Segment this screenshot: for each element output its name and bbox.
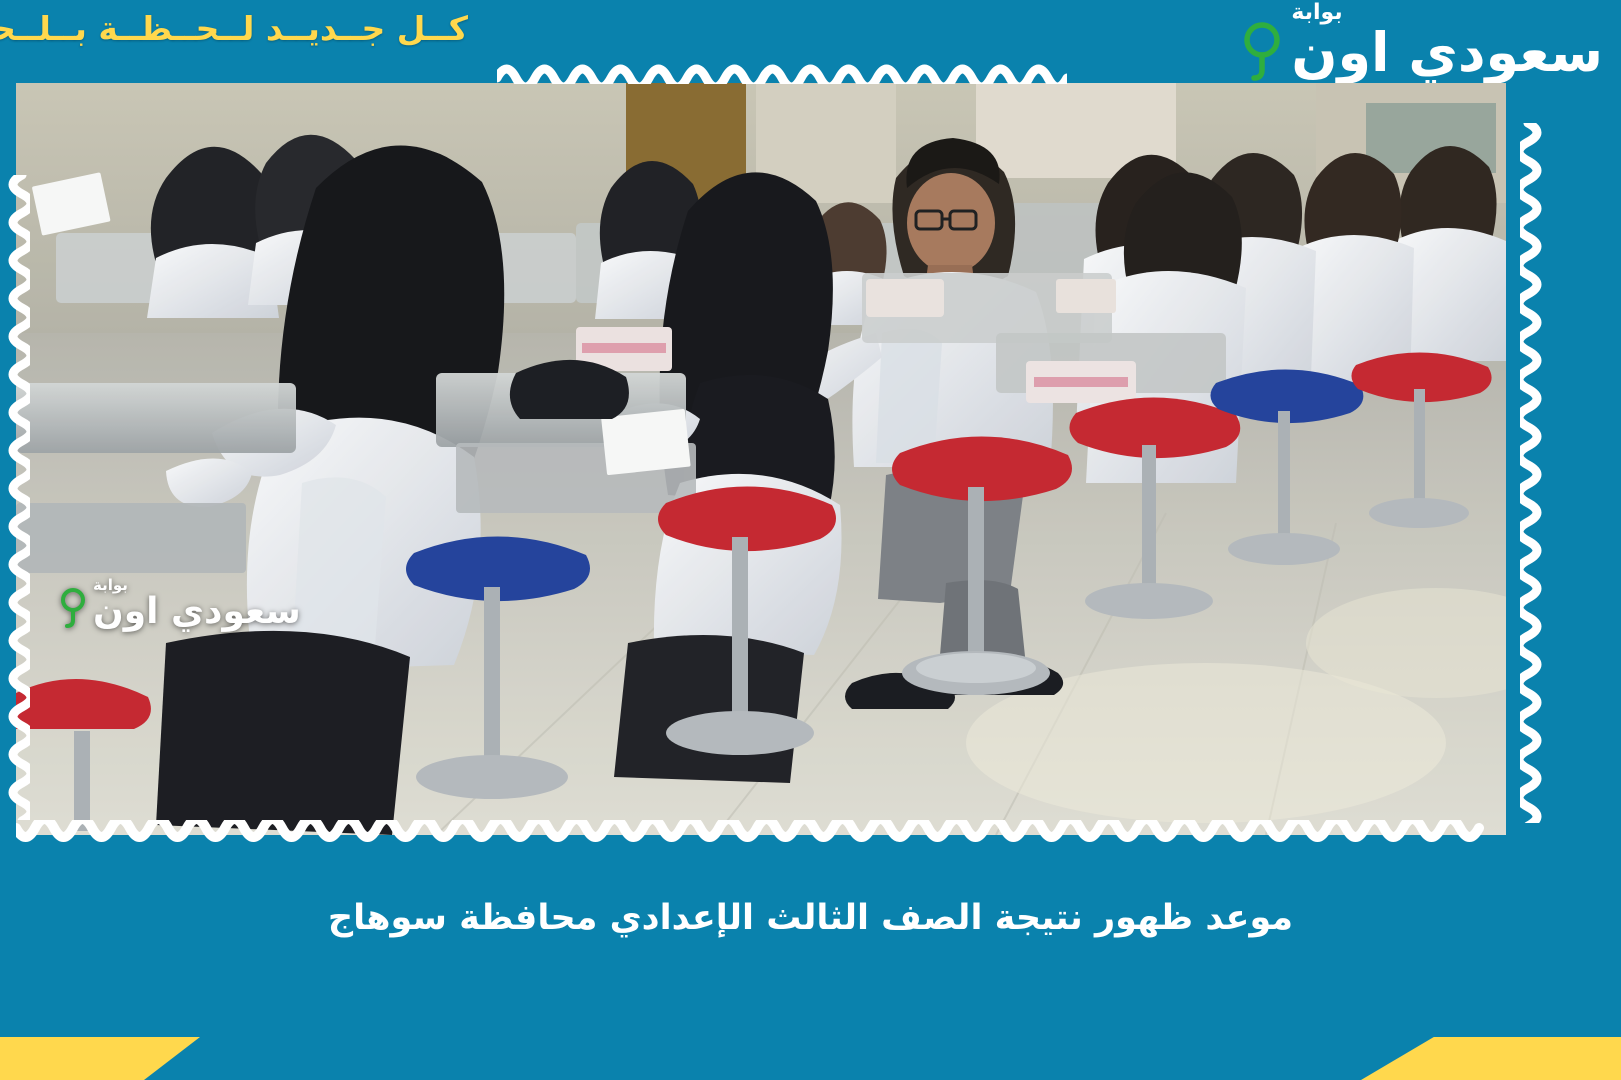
- watermark-main-word: سعودي اون: [93, 594, 301, 630]
- brand-main-word: سعودي اون: [1291, 26, 1603, 80]
- wave-icon: [497, 58, 1067, 84]
- poster-root: كــل جــديــد لــحــظــة بــلــحــظــة ب…: [0, 0, 1621, 1080]
- wave-icon: [1520, 123, 1550, 823]
- bottom-banner-right: [1361, 1037, 1621, 1080]
- brand-words: بوابة سعودي اون: [1291, 2, 1603, 80]
- location-pin-icon: [58, 587, 88, 629]
- wave-border-right: [1520, 123, 1550, 823]
- wave-border-top: [497, 58, 1067, 84]
- photo-frame: بوابة سعودي اون: [16, 83, 1506, 835]
- photo-watermark: بوابة سعودي اون: [58, 578, 301, 630]
- location-pin-icon: [1239, 20, 1285, 82]
- classroom-photo: [16, 83, 1506, 835]
- bottom-banner-left: [0, 1037, 200, 1080]
- brand-logo: بوابة سعودي اون: [1239, 2, 1603, 82]
- watermark-words: بوابة سعودي اون: [93, 578, 301, 630]
- header-tagline: كــل جــديــد لــحــظــة بــلــحــظــة: [8, 8, 468, 49]
- caption-text: موعد ظهور نتيجة الصف الثالث الإعدادي محا…: [0, 898, 1621, 938]
